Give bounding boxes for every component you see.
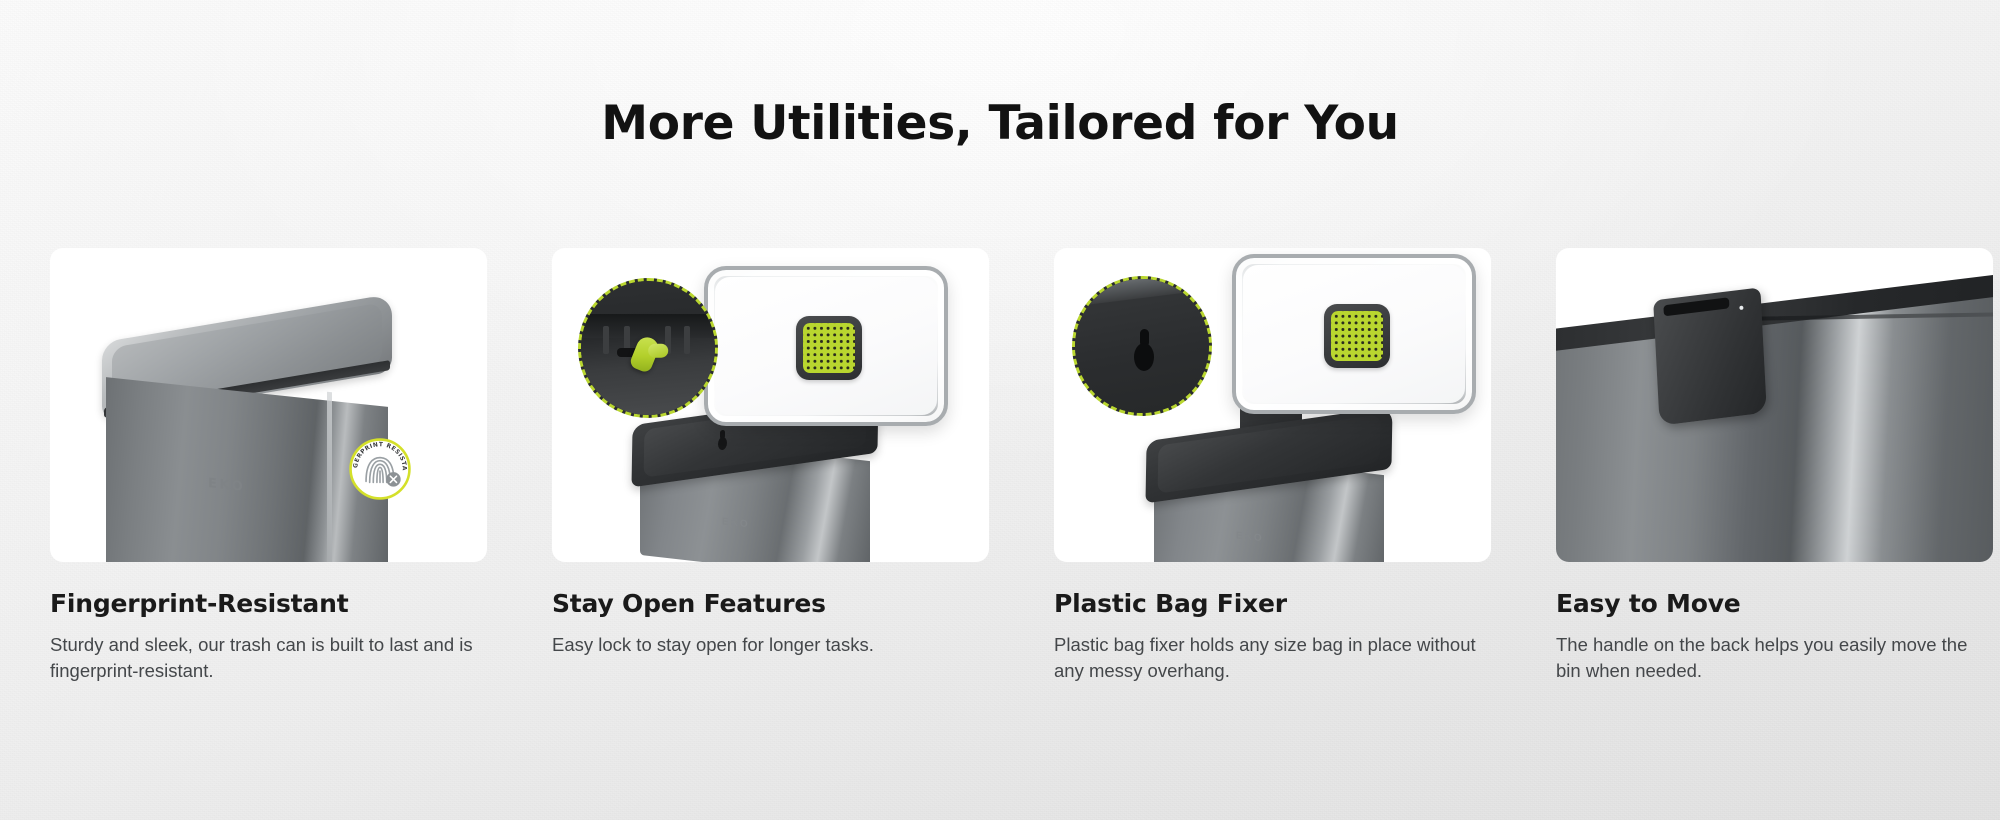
green-vent-pad bbox=[803, 323, 855, 373]
body-corner-highlight bbox=[327, 392, 332, 562]
lid-vent-housing bbox=[1324, 304, 1390, 368]
card-image-stay-open-features: EKO bbox=[552, 248, 989, 562]
open-lid-panel bbox=[704, 266, 948, 426]
card-description: Easy lock to stay open for longer tasks. bbox=[552, 632, 982, 658]
inset-rib bbox=[603, 326, 609, 354]
trash-can-open-lid-illustration: EKO bbox=[552, 248, 989, 562]
card-title: Stay Open Features bbox=[552, 589, 989, 619]
feature-card-stay-open-features[interactable]: EKO bbox=[552, 248, 989, 684]
lid-vent-housing bbox=[796, 316, 862, 380]
bag-fixer-slot-inset bbox=[1072, 276, 1212, 416]
feature-section: More Utilities, Tailored for You EKO bbox=[0, 0, 2000, 820]
inset-photo bbox=[578, 278, 718, 418]
trash-can-open-lid-illustration: EKO bbox=[1054, 248, 1491, 562]
keyhole-slot bbox=[1134, 329, 1154, 371]
trash-can-handle-illustration bbox=[1556, 248, 1993, 562]
trash-can-illustration: EKO FI bbox=[102, 318, 392, 562]
trash-can-body bbox=[106, 377, 388, 562]
stay-open-lock-lever-inset bbox=[578, 278, 718, 418]
page-title: More Utilities, Tailored for You bbox=[0, 96, 2000, 152]
card-title: Fingerprint-Resistant bbox=[50, 589, 487, 619]
feature-card-grid: EKO FI bbox=[50, 248, 1950, 684]
feature-card-easy-to-move[interactable]: Easy to Move The handle on the back help… bbox=[1556, 248, 1993, 684]
inset-channel-shelf bbox=[578, 314, 718, 338]
card-image-easy-to-move bbox=[1556, 248, 1993, 562]
feature-card-plastic-bag-fixer[interactable]: EKO bbox=[1054, 248, 1491, 684]
bag-fixer-slot bbox=[718, 429, 727, 450]
inset-photo bbox=[1072, 276, 1212, 416]
card-title: Easy to Move bbox=[1556, 589, 1993, 619]
handle-dot bbox=[1739, 306, 1743, 310]
fingerprint-resistant-badge-icon: FINGERPRINT RESISTANT bbox=[349, 438, 411, 500]
feature-card-fingerprint-resistant[interactable]: EKO FI bbox=[50, 248, 487, 684]
brand-logo: EKO bbox=[722, 516, 750, 530]
card-description: Sturdy and sleek, our trash can is built… bbox=[50, 632, 480, 684]
carry-handle bbox=[1653, 287, 1767, 425]
inset-rib bbox=[684, 326, 690, 354]
handle-slot bbox=[1663, 297, 1729, 316]
brand-logo: EKO bbox=[1236, 530, 1264, 544]
green-vent-pad bbox=[1331, 311, 1383, 361]
open-lid-panel bbox=[1232, 254, 1476, 414]
card-image-fingerprint-resistant: EKO FI bbox=[50, 248, 487, 562]
card-image-plastic-bag-fixer: EKO bbox=[1054, 248, 1491, 562]
card-description: Plastic bag fixer holds any size bag in … bbox=[1054, 632, 1484, 684]
card-title: Plastic Bag Fixer bbox=[1054, 589, 1491, 619]
card-description: The handle on the back helps you easily … bbox=[1556, 632, 1986, 684]
